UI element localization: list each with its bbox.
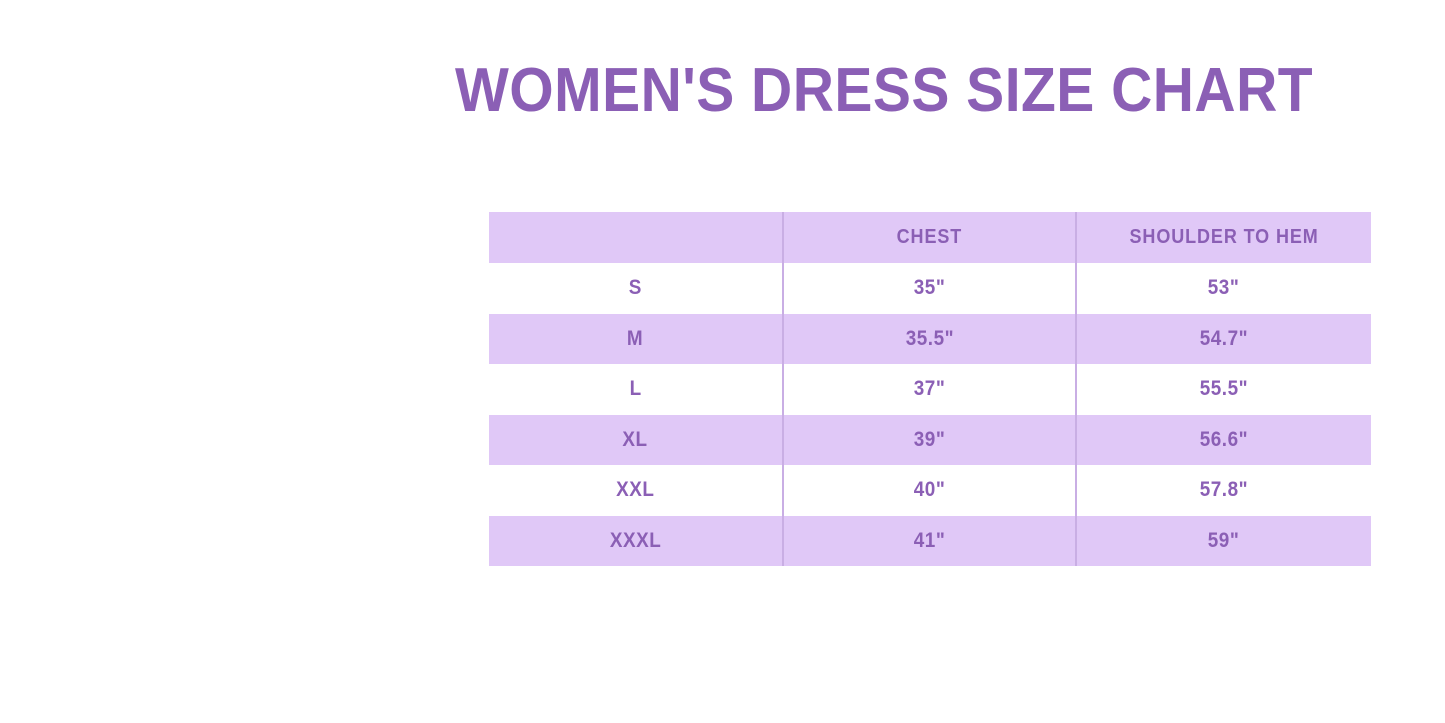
- cell-chest-value: 35.5": [905, 327, 953, 351]
- cell-size-value: XL: [623, 428, 648, 452]
- page-title: WOMEN'S DRESS SIZE CHART: [71, 55, 1445, 127]
- cell-size: M: [489, 314, 783, 365]
- cell-chest-value: 40": [914, 478, 946, 502]
- cell-chest: 35.5": [783, 314, 1076, 365]
- cell-chest: 41": [783, 516, 1076, 567]
- column-header-chest-label: CHEST: [897, 226, 963, 249]
- cell-size: XXL: [489, 465, 783, 516]
- cell-chest-value: 41": [914, 529, 946, 553]
- size-chart-page: WOMEN'S DRESS SIZE CHART CHEST SHOULDER …: [0, 0, 1445, 723]
- cell-chest: 35": [783, 263, 1076, 314]
- table-row: M 35.5" 54.7": [489, 314, 1371, 365]
- cell-shoulder-to-hem-value: 57.8": [1200, 478, 1248, 502]
- table-row: XL 39" 56.6": [489, 415, 1371, 466]
- cell-shoulder-to-hem-value: 54.7": [1200, 327, 1248, 351]
- table-body: S 35" 53" M 35.5": [489, 263, 1371, 566]
- column-header-shoulder-to-hem: SHOULDER TO HEM: [1076, 212, 1371, 263]
- table-row: L 37" 55.5": [489, 364, 1371, 415]
- cell-shoulder-to-hem: 54.7": [1076, 314, 1371, 365]
- cell-shoulder-to-hem: 59": [1076, 516, 1371, 567]
- column-header-size: [489, 212, 783, 263]
- table-row: XXL 40" 57.8": [489, 465, 1371, 516]
- table-row: S 35" 53": [489, 263, 1371, 314]
- cell-size-value: L: [629, 377, 641, 401]
- cell-size-value: S: [629, 276, 642, 300]
- table-row: XXXL 41" 59": [489, 516, 1371, 567]
- cell-chest-value: 35": [914, 276, 946, 300]
- cell-size: XL: [489, 415, 783, 466]
- size-chart-table: CHEST SHOULDER TO HEM S 35" 53": [489, 212, 1371, 566]
- cell-size-value: XXXL: [610, 529, 662, 553]
- cell-shoulder-to-hem-value: 56.6": [1200, 428, 1248, 452]
- cell-chest: 37": [783, 364, 1076, 415]
- column-header-chest: CHEST: [783, 212, 1076, 263]
- cell-shoulder-to-hem: 56.6": [1076, 415, 1371, 466]
- cell-shoulder-to-hem: 53": [1076, 263, 1371, 314]
- size-chart-table-wrap: CHEST SHOULDER TO HEM S 35" 53": [489, 212, 1371, 566]
- column-header-shoulder-to-hem-label: SHOULDER TO HEM: [1129, 226, 1318, 249]
- cell-shoulder-to-hem: 57.8": [1076, 465, 1371, 516]
- table-header-row: CHEST SHOULDER TO HEM: [489, 212, 1371, 263]
- cell-size-value: XXL: [616, 478, 654, 502]
- cell-size-value: M: [627, 327, 643, 351]
- cell-shoulder-to-hem: 55.5": [1076, 364, 1371, 415]
- cell-chest-value: 37": [914, 377, 946, 401]
- cell-shoulder-to-hem-value: 59": [1208, 529, 1240, 553]
- cell-size: L: [489, 364, 783, 415]
- cell-size: S: [489, 263, 783, 314]
- table-header: CHEST SHOULDER TO HEM: [489, 212, 1371, 263]
- cell-chest-value: 39": [914, 428, 946, 452]
- cell-shoulder-to-hem-value: 53": [1208, 276, 1240, 300]
- cell-shoulder-to-hem-value: 55.5": [1200, 377, 1248, 401]
- cell-size: XXXL: [489, 516, 783, 567]
- cell-chest: 40": [783, 465, 1076, 516]
- cell-chest: 39": [783, 415, 1076, 466]
